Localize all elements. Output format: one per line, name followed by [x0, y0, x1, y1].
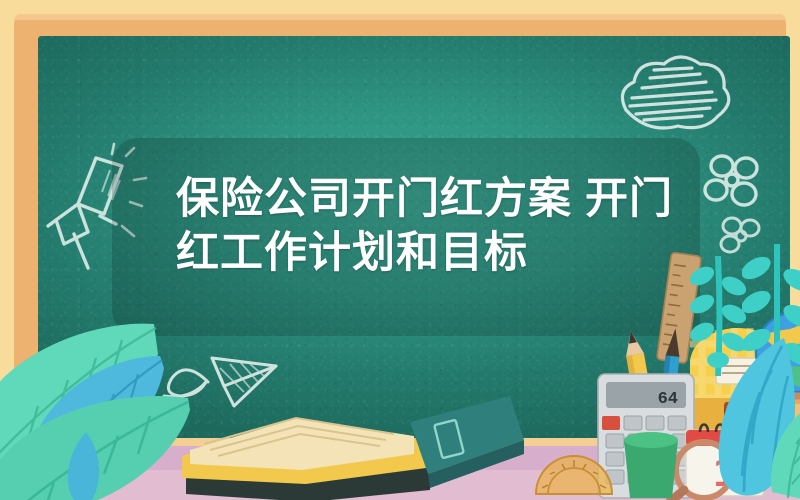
leaf-mint-right-icon	[766, 400, 800, 500]
pen-cup-icon	[616, 430, 686, 500]
title-line-1: 保险公司开门红方案 开门	[176, 172, 646, 226]
title-line-2: 红工作计划和目标	[176, 226, 646, 280]
poster-canvas: 保险公司开门红方案 开门 红工作计划和目标	[0, 0, 800, 500]
calculator-display-value: 64	[658, 390, 678, 409]
book-stack-icon	[180, 398, 430, 500]
book-teal-icon	[406, 392, 524, 500]
protractor-icon	[534, 440, 614, 496]
page-title: 保险公司开门红方案 开门 红工作计划和目标	[176, 172, 646, 280]
leaf-blue-small-icon	[62, 430, 108, 500]
